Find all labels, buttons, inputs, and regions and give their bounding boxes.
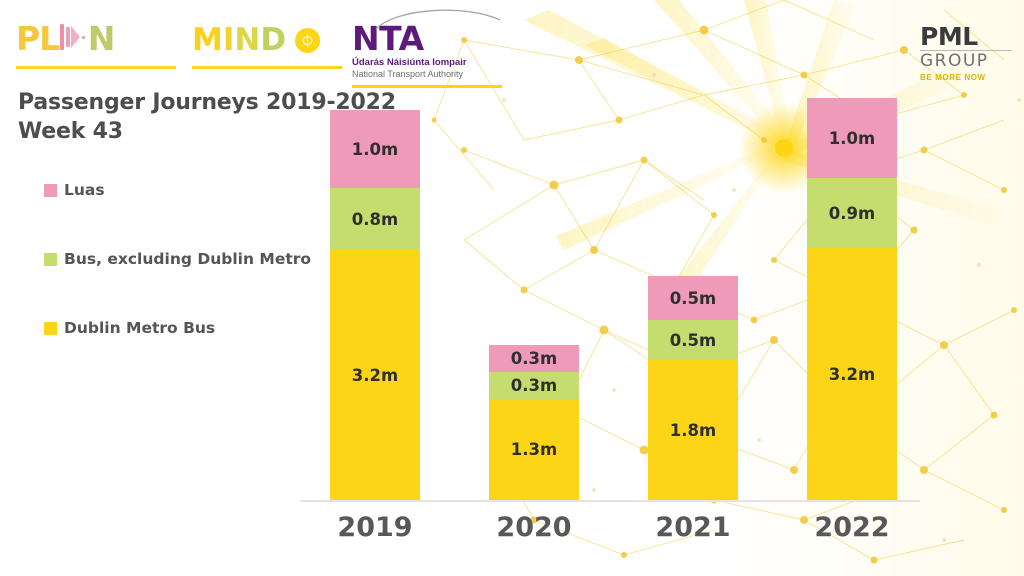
x-axis-label-2021: 2021 xyxy=(648,512,738,543)
bar-label-luas-2022: 1.0m xyxy=(829,129,875,148)
mind-logo-underline xyxy=(192,66,342,69)
legend-swatch-luas xyxy=(44,184,57,197)
legend-label-luas: Luas xyxy=(64,181,105,199)
bar-segment-bus-2019[interactable]: 0.8m xyxy=(330,188,420,250)
x-axis-label-2022: 2022 xyxy=(807,512,897,543)
nta-subtitle-english: National Transport Authority xyxy=(352,69,502,80)
bar-segment-metro-2020[interactable]: 1.3m xyxy=(489,399,579,500)
bar-label-metro-2019: 3.2m xyxy=(352,366,398,385)
nta-arc-icon xyxy=(374,6,502,30)
bar-label-luas-2020: 0.3m xyxy=(511,349,557,368)
legend-item-dublin-metro-bus[interactable]: Dublin Metro Bus xyxy=(44,318,311,338)
bar-group-2021[interactable]: 0.5m 0.5m 1.8m xyxy=(648,276,738,500)
bar-segment-bus-2021[interactable]: 0.5m xyxy=(648,320,738,360)
legend-item-luas[interactable]: Luas xyxy=(44,180,311,200)
bar-label-luas-2021: 0.5m xyxy=(670,289,716,308)
plan-logo-mark-icon xyxy=(60,22,85,52)
x-axis-label-2019: 2019 xyxy=(330,512,420,543)
bar-segment-luas-2020[interactable]: 0.3m xyxy=(489,345,579,372)
bar-segment-bus-2020[interactable]: 0.3m xyxy=(489,372,579,399)
nta-logo: NTA Údarás Náisiúnta Iompair National Tr… xyxy=(352,6,502,88)
plan-logo-text-n: N xyxy=(88,22,115,55)
bar-group-2020[interactable]: 0.3m 0.3m 1.3m xyxy=(489,345,579,500)
mind-letter-d: D xyxy=(260,25,286,56)
bar-label-bus-2019: 0.8m xyxy=(352,210,398,229)
mind-letter-n: N xyxy=(234,25,260,56)
bar-label-metro-2020: 1.3m xyxy=(511,440,557,459)
mind-logo: M I N D xyxy=(192,22,342,69)
plan-logo: PL N xyxy=(16,22,176,69)
pml-logo: PML GROUP BE MORE NOW xyxy=(920,24,1012,83)
bar-label-metro-2021: 1.8m xyxy=(670,421,716,440)
bar-label-bus-2022: 0.9m xyxy=(829,204,875,223)
bar-group-2019[interactable]: 1.0m 0.8m 3.2m xyxy=(330,110,420,500)
pml-brand-text: PML xyxy=(920,24,1012,49)
legend-swatch-metro xyxy=(44,322,57,335)
legend-swatch-bus xyxy=(44,253,57,266)
pml-group-text: GROUP xyxy=(920,52,1012,71)
brain-glyph-icon xyxy=(300,33,315,48)
legend-item-bus-excluding-dublin-metro[interactable]: Bus, excluding Dublin Metro xyxy=(44,249,311,269)
bar-segment-luas-2021[interactable]: 0.5m xyxy=(648,276,738,320)
bar-label-bus-2021: 0.5m xyxy=(670,331,716,350)
plan-logo-underline xyxy=(16,66,176,69)
mind-letter-i: I xyxy=(223,25,235,56)
page-title: Passenger Journeys 2019-2022 Week 43 xyxy=(18,88,396,146)
bar-label-metro-2022: 3.2m xyxy=(829,365,875,384)
bar-segment-bus-2022[interactable]: 0.9m xyxy=(807,178,897,248)
chart-title-line2: Week 43 xyxy=(18,117,396,146)
bar-segment-metro-2022[interactable]: 3.2m xyxy=(807,248,897,500)
nta-subtitle-irish: Údarás Náisiúnta Iompair xyxy=(352,57,502,69)
chart-title-line1: Passenger Journeys 2019-2022 xyxy=(18,88,396,117)
legend-label-metro: Dublin Metro Bus xyxy=(64,319,215,337)
bar-group-2022[interactable]: 1.0m 0.9m 3.2m xyxy=(807,98,897,500)
header-bar: PL N M I N D NTA Údarás Náisiúnta xyxy=(0,0,1024,88)
bar-segment-luas-2022[interactable]: 1.0m xyxy=(807,98,897,178)
bar-segment-metro-2021[interactable]: 1.8m xyxy=(648,360,738,500)
bar-segment-metro-2019[interactable]: 3.2m xyxy=(330,250,420,500)
x-axis-label-2020: 2020 xyxy=(489,512,579,543)
plan-logo-text-pl: PL xyxy=(16,22,59,55)
brain-circle-icon xyxy=(295,28,320,53)
x-axis-line xyxy=(300,500,920,502)
chart-legend: Luas Bus, excluding Dublin Metro Dublin … xyxy=(44,180,311,387)
legend-label-bus: Bus, excluding Dublin Metro xyxy=(64,250,311,268)
mind-letter-m: M xyxy=(192,25,223,56)
pml-tagline: BE MORE NOW xyxy=(920,73,1012,83)
bar-label-bus-2020: 0.3m xyxy=(511,376,557,395)
